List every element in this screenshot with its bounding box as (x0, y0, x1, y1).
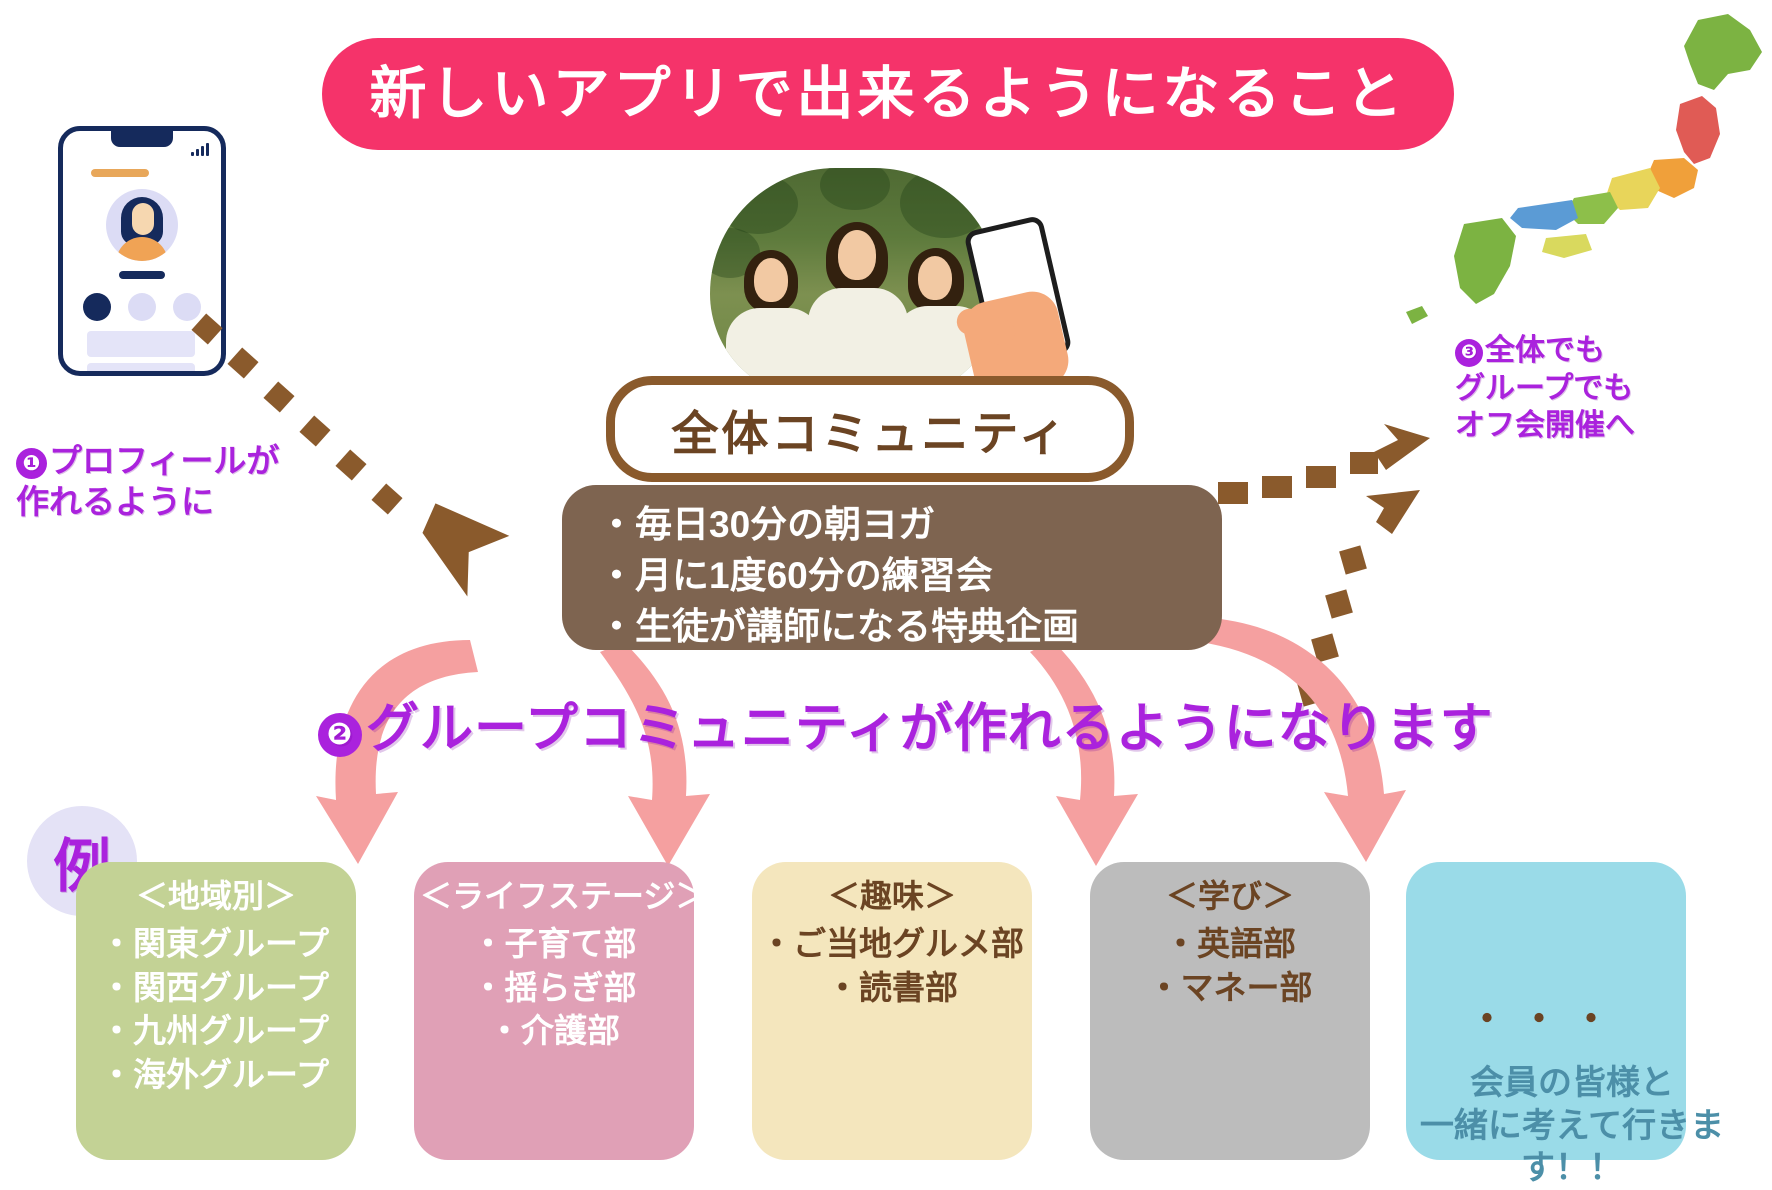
phone-content-line-2 (87, 363, 195, 376)
step-1-label: ❶プロフィールが 作れるように (16, 440, 336, 523)
list-item: 読書部 (758, 966, 1026, 1010)
list-item: 関東グループ (100, 922, 350, 966)
phone-notch (111, 131, 173, 147)
step-3-label: ❸全体でも グループでも オフ会開催へ (1455, 332, 1755, 445)
closing-line-2: 一緒に考えて行きます！！ (1380, 1105, 1764, 1190)
page-title: 新しいアプリで出来るようになること (370, 66, 1407, 123)
step-3-line-2: グループでも (1455, 370, 1755, 408)
step-2-label: ❷グループコミュニティが作れるようになります (318, 686, 1494, 762)
card-hobby: ＜趣味＞ ご当地グルメ部 読書部 (752, 862, 1032, 1160)
community-activities-list: 毎日30分の朝ヨガ 月に1度60分の練習会 生徒が講師になる特典企画 (562, 499, 1222, 652)
step-1-line-2: 作れるように (16, 481, 336, 522)
closing-line-1: 会員の皆様と (1380, 1062, 1764, 1105)
phone-tab-dots (83, 293, 201, 321)
list-item: 英語部 (1096, 922, 1364, 966)
list-item: マネー部 (1096, 966, 1364, 1010)
list-item: 子育て部 (420, 922, 688, 966)
card-heading: ＜学び＞ (1096, 876, 1364, 916)
card-list: 関東グループ 関西グループ 九州グループ 海外グループ (82, 922, 350, 1096)
card-heading: ＜趣味＞ (758, 876, 1026, 916)
step-2-text: グループコミュニティが作れるようになります (366, 699, 1494, 758)
list-item: 介護部 (420, 1009, 688, 1053)
step-3-number: ❸ (1455, 339, 1483, 367)
phone-content-line-1 (87, 331, 195, 357)
card-learning: ＜学び＞ 英語部 マネー部 (1090, 862, 1370, 1160)
list-item: 毎日30分の朝ヨガ (624, 499, 1222, 550)
list-item: ご当地グルメ部 (758, 922, 1026, 966)
list-item: 揺らぎ部 (420, 966, 688, 1010)
card-ellipsis: ・・・ (1412, 988, 1680, 1043)
list-item: 海外グループ (100, 1053, 350, 1097)
list-item: 月に1度60分の練習会 (624, 550, 1222, 601)
whole-community-pill: 全体コミュニティ (606, 376, 1134, 482)
card-region: ＜地域別＞ 関東グループ 関西グループ 九州グループ 海外グループ (76, 862, 356, 1160)
list-item: 生徒が講師になる特典企画 (624, 601, 1222, 652)
list-item: 関西グループ (100, 966, 350, 1010)
step-3-line-1: ❸全体でも (1455, 332, 1755, 370)
card-heading: ＜ライフステージ＞ (420, 876, 688, 916)
phone-name-bar (119, 271, 165, 279)
card-list: 英語部 マネー部 (1096, 922, 1364, 1009)
card-lifestage: ＜ライフステージ＞ 子育て部 揺らぎ部 介護部 (414, 862, 694, 1160)
closing-message: 会員の皆様と 一緒に考えて行きます！！ (1380, 1062, 1764, 1190)
signal-bars-icon (191, 143, 209, 156)
card-list: ご当地グルメ部 読書部 (758, 922, 1026, 1009)
smartphone-icon (58, 126, 226, 376)
community-photo (710, 168, 1000, 398)
step-3-line-3: オフ会開催へ (1455, 407, 1755, 445)
step-2-number: ❷ (318, 713, 362, 757)
infographic-canvas: 新しいアプリで出来るようになること (0, 0, 1772, 1181)
hand-holding-phone-icon (960, 222, 1110, 402)
whole-community-label: 全体コミュニティ (671, 395, 1068, 464)
dotted-arrow-icon (1297, 490, 1420, 707)
step-1-line-1: ❶プロフィールが (16, 440, 336, 481)
phone-header-bar (91, 169, 149, 177)
user-avatar-icon (106, 189, 178, 261)
card-heading: ＜地域別＞ (82, 876, 350, 916)
step-1-number: ❶ (16, 448, 47, 479)
community-activities-box: 毎日30分の朝ヨガ 月に1度60分の練習会 生徒が講師になる特典企画 (562, 485, 1222, 650)
page-title-banner: 新しいアプリで出来るようになること (322, 38, 1454, 150)
dotted-arrow-icon (1218, 424, 1430, 504)
card-list: 子育て部 揺らぎ部 介護部 (420, 922, 688, 1053)
list-item: 九州グループ (100, 1009, 350, 1053)
